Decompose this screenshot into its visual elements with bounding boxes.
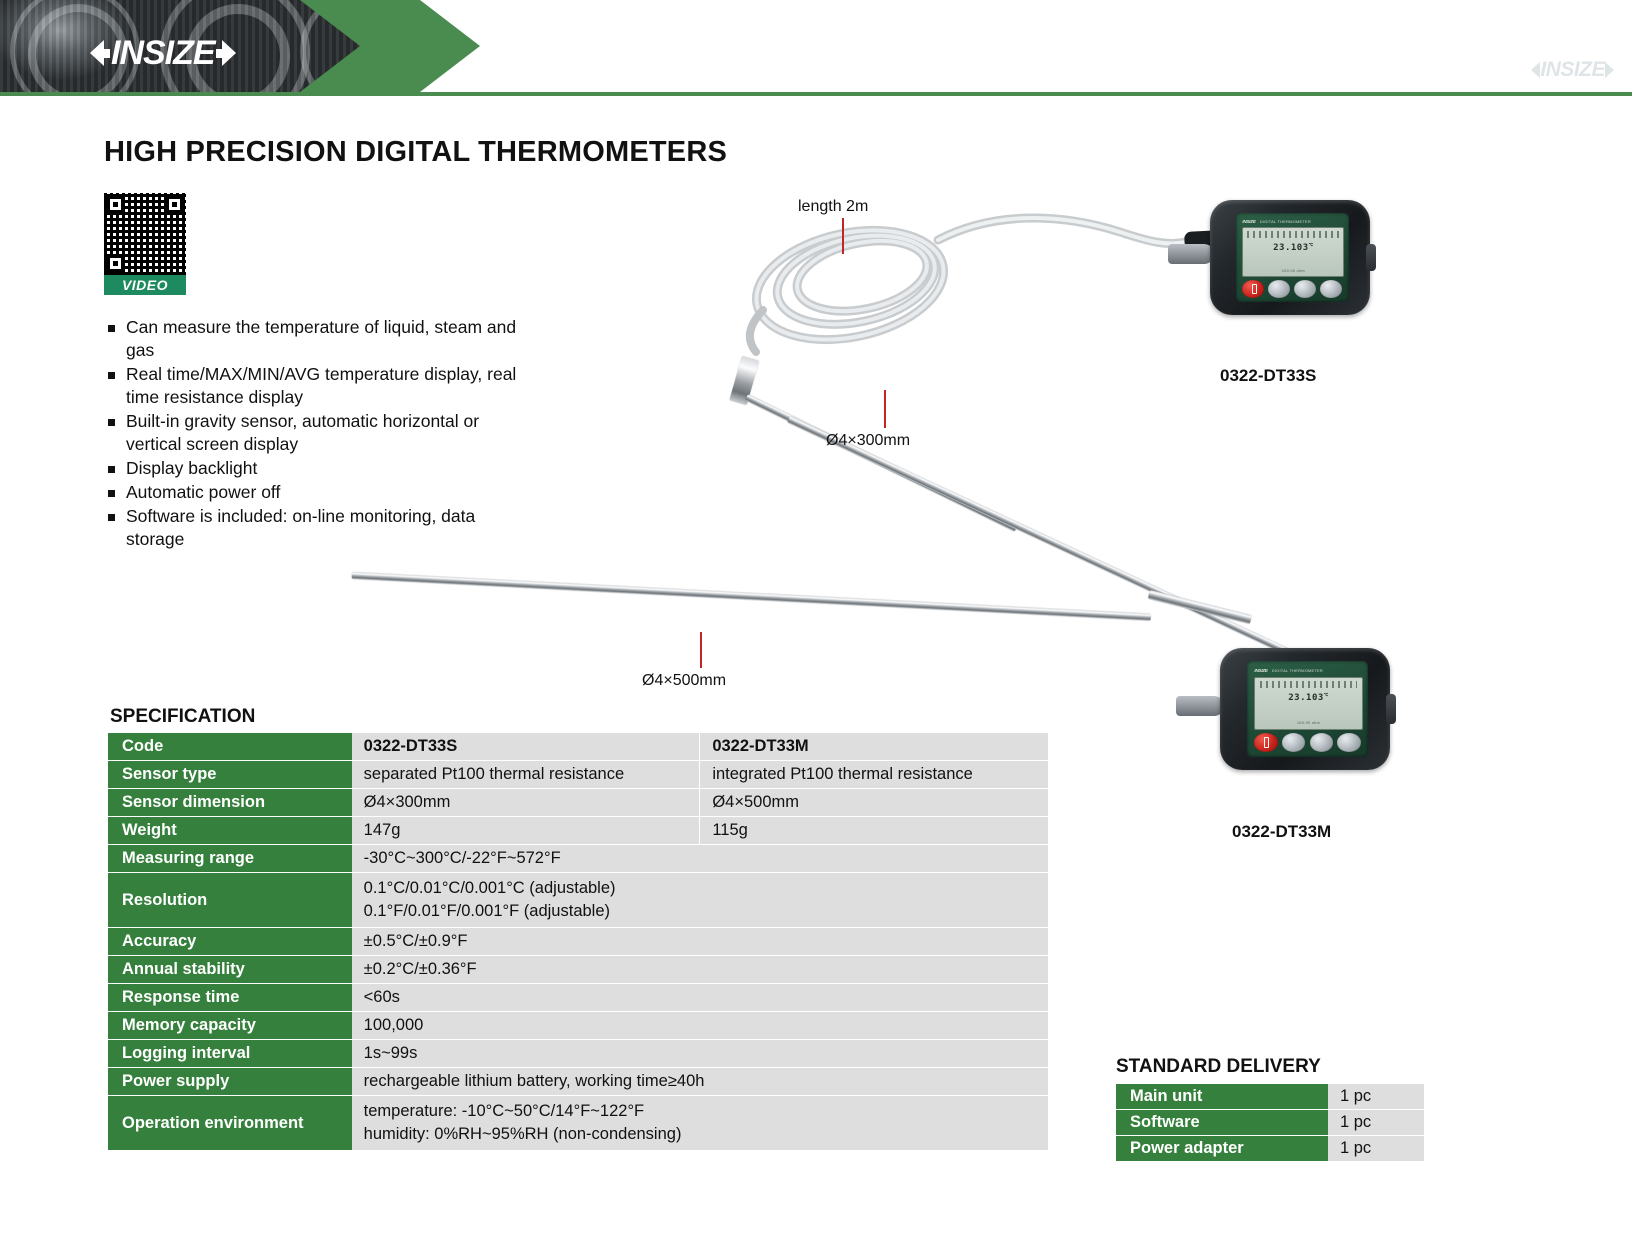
callout-cable-length: length 2m [798, 198, 868, 216]
function-button-1-s[interactable] [1268, 280, 1290, 297]
standard-delivery-table-body: Main unit1 pcSoftware1 pcPower adapter1 … [1116, 1084, 1424, 1161]
logo-right-arrow-icon [222, 40, 236, 66]
list-item: Real time/MAX/MIN/AVG temperature displa… [108, 363, 528, 409]
delivery-row-qty: 1 pc [1328, 1110, 1424, 1135]
table-row: Main unit1 pc [1116, 1084, 1424, 1109]
bullet-square-icon [108, 363, 126, 409]
device-lcd-s: 23.103℃ 100.00 ohm [1242, 227, 1344, 277]
device-brand-m: INSIZE [1254, 668, 1267, 673]
table-row: Measuring range-30°C~300°C/-22°F~572°F [108, 845, 1048, 872]
spec-row-value: rechargeable lithium battery, working ti… [352, 1068, 1048, 1095]
spec-row-value: 100,000 [352, 1012, 1048, 1039]
specification-table: Code0322-DT33S0322-DT33MSensor typesepar… [108, 732, 1048, 1151]
specification-table-body: Code0322-DT33S0322-DT33MSensor typesepar… [108, 733, 1048, 1150]
table-row: Sensor typeseparated Pt100 thermal resis… [108, 761, 1048, 788]
spec-row-key: Resolution [108, 873, 352, 927]
feature-text: Automatic power off [126, 481, 280, 504]
feature-text: Real time/MAX/MIN/AVG temperature displa… [126, 363, 528, 409]
delivery-row-key: Software [1116, 1110, 1328, 1135]
list-item: Software is included: on-line monitoring… [108, 505, 528, 551]
spec-row-value: 0.1°C/0.01°C/0.001°C (adjustable)0.1°F/0… [352, 873, 1048, 927]
callout-probe-300: Ø4×300mm [826, 432, 910, 450]
delivery-row-qty: 1 pc [1328, 1136, 1424, 1161]
spec-row-value: ±0.2°C/±0.36°F [352, 956, 1048, 983]
device-brand-row-s: INSIZE DIGITAL THERMOMETER [1242, 217, 1342, 225]
device-side-button-s[interactable] [1366, 244, 1376, 272]
lcd-temperature-value-s: 23.103℃ [1243, 242, 1343, 253]
spec-row-value: separated Pt100 thermal resistance [352, 761, 700, 788]
page-title: HIGH PRECISION DIGITAL THERMOMETERS [104, 136, 727, 169]
device-brand-row-m: INSIZE DIGITAL THERMOMETER [1254, 666, 1360, 675]
spec-row-value: integrated Pt100 thermal resistance [699, 761, 1048, 788]
spec-row-key: Operation environment [108, 1096, 352, 1150]
spec-row-value: Ø4×300mm [352, 789, 700, 816]
delivery-row-key: Main unit [1116, 1084, 1328, 1109]
power-button-s[interactable] [1242, 280, 1264, 297]
feature-text: Display backlight [126, 457, 257, 480]
table-row: Accuracy±0.5°C/±0.9°F [108, 928, 1048, 955]
function-button-2-s[interactable] [1294, 280, 1316, 297]
watermark-left-arrow-icon [1531, 62, 1540, 78]
device-side-button-m[interactable] [1386, 694, 1396, 723]
power-button-m[interactable] [1254, 733, 1277, 751]
device-button-row-s [1242, 279, 1342, 299]
spec-row-value: 147g [352, 817, 700, 844]
table-row: Power supplyrechargeable lithium battery… [108, 1068, 1048, 1095]
feature-text: Can measure the temperature of liquid, s… [126, 316, 528, 362]
lcd-segment-ticks-m [1260, 681, 1358, 688]
video-badge: VIDEO [104, 275, 186, 295]
standard-delivery-table: Main unit1 pcSoftware1 pcPower adapter1 … [1116, 1083, 1424, 1162]
spec-row-key: Sensor dimension [108, 789, 352, 816]
bullet-square-icon [108, 316, 126, 362]
spec-row-value: <60s [352, 984, 1048, 1011]
spec-row-value: 1s~99s [352, 1040, 1048, 1067]
delivery-row-key: Power adapter [1116, 1136, 1328, 1161]
feature-text: Software is included: on-line monitoring… [126, 505, 528, 551]
table-row: Resolution0.1°C/0.01°C/0.001°C (adjustab… [108, 873, 1048, 927]
table-row: Software1 pc [1116, 1110, 1424, 1135]
function-button-3-m[interactable] [1337, 733, 1360, 751]
device-faceplate-m: INSIZE DIGITAL THERMOMETER 23.103℃ 100.0… [1247, 661, 1368, 756]
list-item: Can measure the temperature of liquid, s… [108, 316, 528, 362]
device-faceplate-s: INSIZE DIGITAL THERMOMETER 23.103℃ 100.0… [1236, 213, 1350, 303]
callout-probe-500: Ø4×500mm [642, 672, 726, 690]
table-row: Logging interval1s~99s [108, 1040, 1048, 1067]
device-neck-s [1168, 244, 1214, 264]
spec-row-value: ±0.5°C/±0.9°F [352, 928, 1048, 955]
standard-delivery-title: STANDARD DELIVERY [1116, 1056, 1321, 1078]
logo-left-arrow-icon [90, 40, 104, 66]
bullet-square-icon [108, 505, 126, 551]
watermark-text: INSIZE [1540, 58, 1605, 82]
spec-row-value: Ø4×500mm [699, 789, 1048, 816]
page-header: INSIZE INSIZE [0, 0, 1632, 100]
list-item: Display backlight [108, 457, 528, 480]
logo-text: INSIZE [110, 36, 216, 70]
function-button-3-s[interactable] [1320, 280, 1342, 297]
spec-row-key: Accuracy [108, 928, 352, 955]
lcd-temperature-value-m: 23.103℃ [1255, 692, 1361, 703]
function-button-1-m[interactable] [1282, 733, 1305, 751]
model-label-dt33m: 0322-DT33M [1232, 822, 1331, 842]
spec-row-key: Code [108, 733, 352, 760]
spec-row-key: Response time [108, 984, 352, 1011]
delivery-row-qty: 1 pc [1328, 1084, 1424, 1109]
spec-row-key: Measuring range [108, 845, 352, 872]
table-row: Response time<60s [108, 984, 1048, 1011]
lcd-segment-ticks-s [1247, 231, 1339, 238]
function-button-2-m[interactable] [1310, 733, 1333, 751]
spec-row-key: Memory capacity [108, 1012, 352, 1039]
list-item: Automatic power off [108, 481, 528, 504]
table-row: Operation environmenttemperature: -10°C~… [108, 1096, 1048, 1150]
thermometer-device-dt33s: INSIZE DIGITAL THERMOMETER 23.103℃ 100.0… [1210, 200, 1370, 315]
lcd-resistance-value-m: 100.00 ohm [1255, 721, 1361, 725]
feature-list: Can measure the temperature of liquid, s… [108, 316, 528, 552]
list-item: Built-in gravity sensor, automatic horiz… [108, 410, 528, 456]
spec-row-value: 0322-DT33S [352, 733, 700, 760]
callout-probe-300-leader [884, 390, 886, 428]
device-brand-s: INSIZE [1242, 219, 1255, 224]
spec-row-key: Weight [108, 817, 352, 844]
model-label-dt33s: 0322-DT33S [1220, 366, 1316, 386]
callout-cable-length-leader [842, 218, 844, 254]
table-row: Code0322-DT33S0322-DT33M [108, 733, 1048, 760]
spec-row-key: Power supply [108, 1068, 352, 1095]
header-green-rule [0, 92, 1632, 96]
lcd-resistance-value-s: 100.00 ohm [1243, 269, 1343, 273]
spec-row-value: temperature: -10°C~50°C/14°F~122°Fhumidi… [352, 1096, 1048, 1150]
bullet-square-icon [108, 410, 126, 456]
spec-row-key: Logging interval [108, 1040, 352, 1067]
spec-row-key: Sensor type [108, 761, 352, 788]
insize-watermark: INSIZE [1531, 58, 1614, 82]
device-model-text-m: DIGITAL THERMOMETER [1272, 668, 1323, 673]
table-row: Power adapter1 pc [1116, 1136, 1424, 1161]
bullet-square-icon [108, 481, 126, 504]
bullet-square-icon [108, 457, 126, 480]
device-lcd-m: 23.103℃ 100.00 ohm [1254, 677, 1362, 730]
spec-row-key: Annual stability [108, 956, 352, 983]
insize-logo: INSIZE [90, 36, 236, 70]
table-row: Annual stability±0.2°C/±0.36°F [108, 956, 1048, 983]
device-button-row-m [1254, 732, 1360, 753]
thermometer-device-dt33m: INSIZE DIGITAL THERMOMETER 23.103℃ 100.0… [1220, 648, 1390, 770]
table-row: Sensor dimensionØ4×300mmØ4×500mm [108, 789, 1048, 816]
device-model-text-s: DIGITAL THERMOMETER [1260, 219, 1311, 224]
feature-text: Built-in gravity sensor, automatic horiz… [126, 410, 528, 456]
table-row: Memory capacity100,000 [108, 1012, 1048, 1039]
table-row: Weight147g115g [108, 817, 1048, 844]
watermark-right-arrow-icon [1605, 62, 1614, 78]
spec-row-value: 115g [699, 817, 1048, 844]
device-neck-m [1176, 696, 1224, 716]
qr-code-icon[interactable] [104, 193, 186, 275]
spec-row-value: 0322-DT33M [699, 733, 1048, 760]
specification-title: SPECIFICATION [110, 706, 255, 728]
callout-probe-500-leader [700, 632, 702, 668]
video-qr-block[interactable]: VIDEO [104, 193, 186, 295]
spec-row-value: -30°C~300°C/-22°F~572°F [352, 845, 1048, 872]
